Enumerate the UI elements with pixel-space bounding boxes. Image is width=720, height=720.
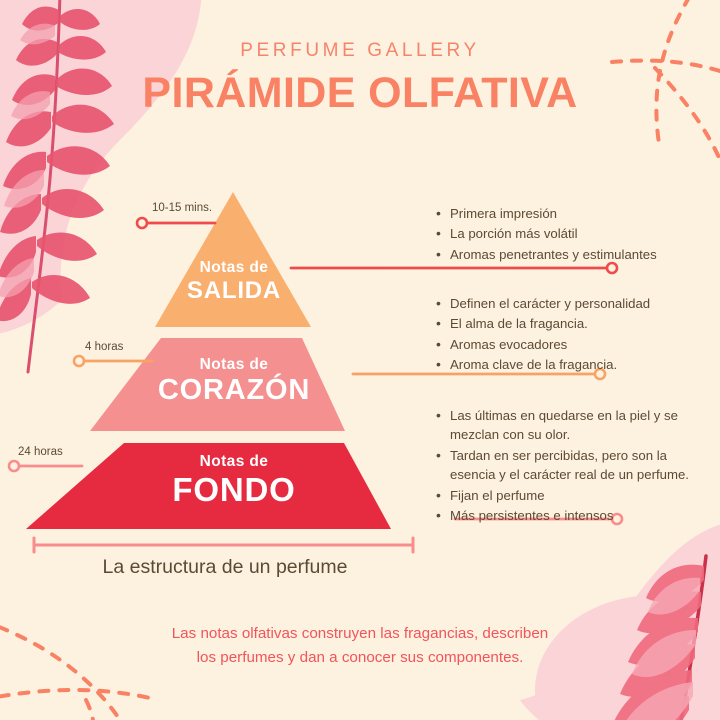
bullet-list-corazon: Definen el carácter y personalidadEl alm… [436,294,698,376]
list-item: Definen el carácter y personalidad [436,294,698,313]
brand-eyebrow: PERFUME GALLERY [0,40,720,63]
bullet-list-salida: Primera impresiónLa porción más volátilA… [436,204,696,265]
list-item: Aroma clave de la fragancia. [436,355,698,374]
connector-timing-fondo [9,461,82,471]
footer-line-1: Las notas olfativas construyen las fraga… [110,622,610,646]
base-width-bracket [34,538,413,552]
list-item: Aromas penetrantes y estimulantes [436,245,696,264]
timing-label-corazon: 4 horas [85,341,123,353]
timing-label-fondo: 24 horas [18,446,63,458]
connector-timing-corazon [74,356,152,366]
poster-header: PERFUME GALLERY PIRÁMIDE OLFATIVA [0,40,720,118]
bullet-items-corazon: Definen el carácter y personalidadEl alm… [436,294,698,375]
list-item: Las últimas en quedarse en la piel y se … [436,406,690,445]
bullet-list-fondo: Las últimas en quedarse en la piel y se … [436,406,690,526]
bullet-items-salida: Primera impresiónLa porción más volátilA… [436,204,696,264]
page-title: PIRÁMIDE OLFATIVA [0,69,720,118]
bullet-items-fondo: Las últimas en quedarse en la piel y se … [436,406,690,525]
footer-description: Las notas olfativas construyen las fraga… [110,622,610,669]
pyramid-tier-fondo [26,443,391,529]
list-item: Tardan en ser percibidas, pero son la es… [436,446,690,485]
connector-timing-salida [137,218,215,228]
timing-label-salida: 10-15 mins. [152,202,212,214]
infographic-poster: PERFUME GALLERY PIRÁMIDE OLFATIVA [0,0,720,720]
footer-line-2: los perfumes y dan a conocer sus compone… [110,646,610,670]
list-item: La porción más volátil [436,224,696,243]
base-caption: La estructura de un perfume [30,556,420,579]
list-item: Fijan el perfume [436,486,690,505]
list-item: Aromas evocadores [436,335,698,354]
list-item: Más persistentes e intensos [436,506,690,525]
pyramid-tier-corazon [90,338,345,431]
list-item: El alma de la fragancia. [436,314,698,333]
list-item: Primera impresión [436,204,696,223]
